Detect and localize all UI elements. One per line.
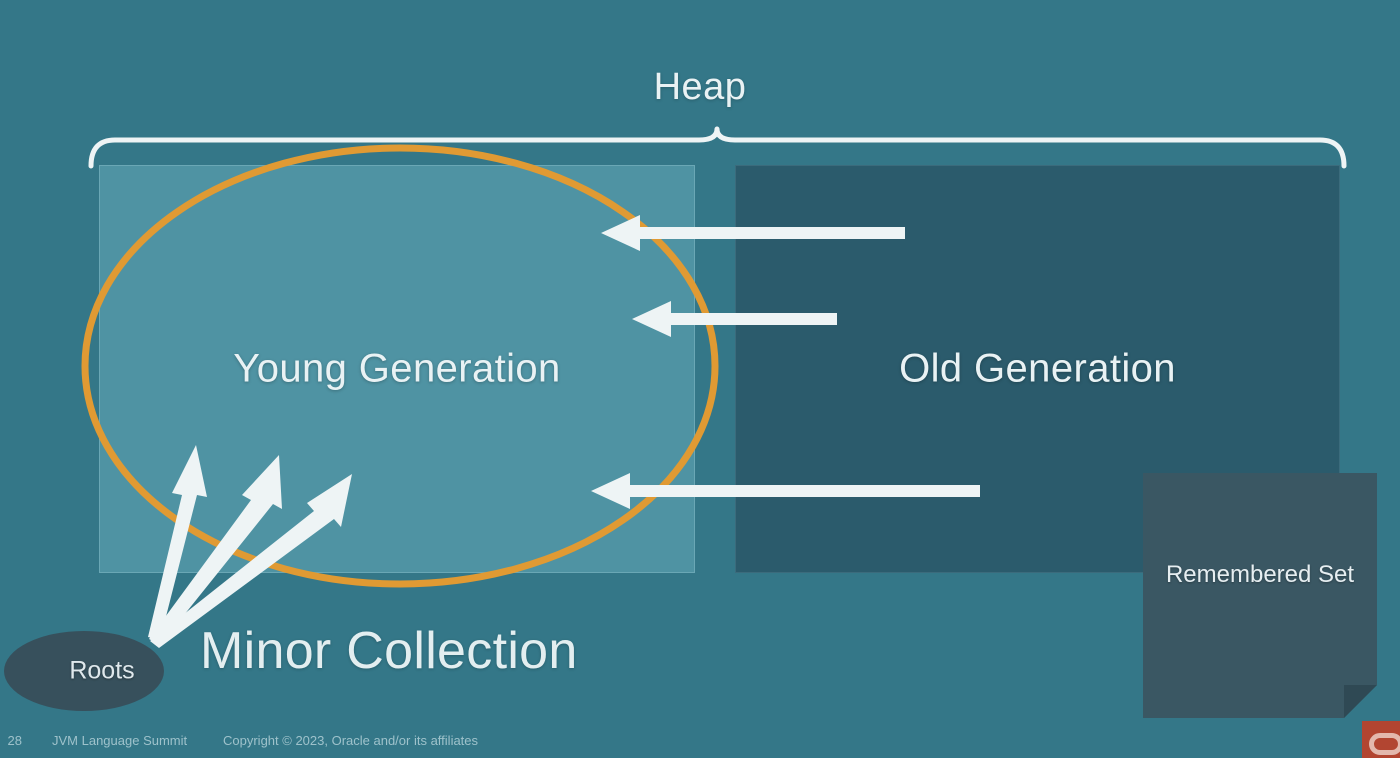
heap-label: Heap [0,66,1400,109]
remembered-set-label: Remembered Set [1143,561,1377,589]
roots-node[interactable]: Roots [4,631,164,711]
footer-page-number: 28 [0,733,22,748]
remembered-set-region[interactable]: Remembered Set [1143,473,1377,718]
oracle-logo-icon [1362,721,1400,758]
footer-copyright: Copyright © 2023, Oracle and/or its affi… [223,733,478,748]
young-generation-label: Young Generation [100,347,694,392]
slide-canvas: Heap Young Generation Old Generation Rem… [0,0,1400,758]
old-generation-label: Old Generation [736,347,1339,392]
young-generation-region[interactable]: Young Generation [99,165,695,573]
footer-event-name: JVM Language Summit [52,733,187,748]
oracle-logo-ring [1369,733,1400,755]
remembered-set-card-shape [1143,473,1377,718]
minor-collection-title: Minor Collection [200,621,578,681]
slide-footer: 28 JVM Language Summit Copyright © 2023,… [0,724,1400,758]
roots-label: Roots [4,657,164,686]
